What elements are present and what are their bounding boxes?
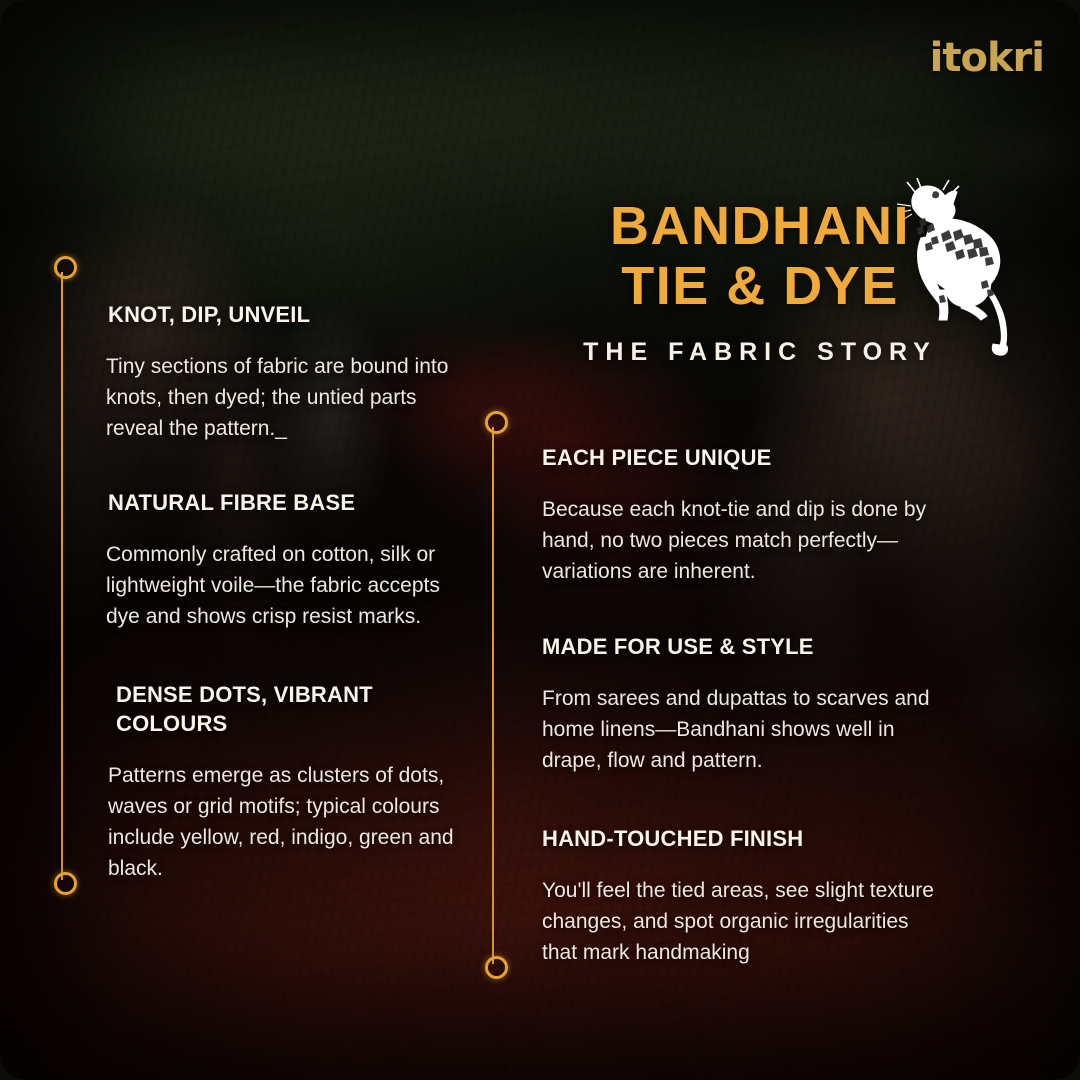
brand-logo[interactable]: itokri: [930, 38, 1044, 78]
title-block: BANDHANI TIE & DYE THE FABRIC STORY: [560, 196, 960, 367]
block-heading: HAND-TOUCHED FINISH: [542, 824, 942, 853]
block-heading: DENSE DOTS, VIBRANT COLOURS: [116, 680, 471, 738]
right-content-column: EACH PIECE UNIQUE Because each knot-tie …: [542, 443, 942, 998]
timeline-rail-right: [492, 427, 494, 964]
content-block: KNOT, DIP, UNVEIL Tiny sections of fabri…: [106, 300, 471, 444]
block-body: Patterns emerge as clusters of dots, wav…: [108, 760, 471, 884]
block-body: You'll feel the tied areas, see slight t…: [542, 875, 942, 968]
block-heading: KNOT, DIP, UNVEIL: [108, 300, 471, 329]
block-body: Commonly crafted on cotton, silk or ligh…: [106, 539, 471, 632]
title-line-1: BANDHANI: [560, 196, 960, 256]
timeline-rail-left: [61, 272, 63, 880]
block-heading: MADE FOR USE & STYLE: [542, 632, 942, 661]
timeline-dot-right-bottom: [485, 956, 508, 979]
block-heading: NATURAL FIBRE BASE: [108, 488, 471, 517]
content-block: DENSE DOTS, VIBRANT COLOURS Patterns eme…: [106, 680, 471, 884]
block-heading: EACH PIECE UNIQUE: [542, 443, 942, 472]
timeline-dot-right-top: [485, 411, 508, 434]
timeline-dot-left-bottom: [54, 872, 77, 895]
content-block: HAND-TOUCHED FINISH You'll feel the tied…: [542, 824, 942, 968]
content-block: NATURAL FIBRE BASE Commonly crafted on c…: [106, 488, 471, 632]
timeline-dot-left-top: [54, 256, 77, 279]
title-line-2: TIE & DYE: [560, 256, 960, 316]
subtitle: THE FABRIC STORY: [560, 338, 960, 367]
infographic-poster: itokri: [0, 0, 1080, 1080]
left-content-column: KNOT, DIP, UNVEIL Tiny sections of fabri…: [106, 300, 471, 914]
block-body: From sarees and dupattas to scarves and …: [542, 683, 942, 776]
block-body: Because each knot-tie and dip is done by…: [542, 494, 942, 587]
block-body: Tiny sections of fabric are bound into k…: [106, 351, 471, 444]
content-block: EACH PIECE UNIQUE Because each knot-tie …: [542, 443, 942, 587]
content-block: MADE FOR USE & STYLE From sarees and dup…: [542, 632, 942, 776]
